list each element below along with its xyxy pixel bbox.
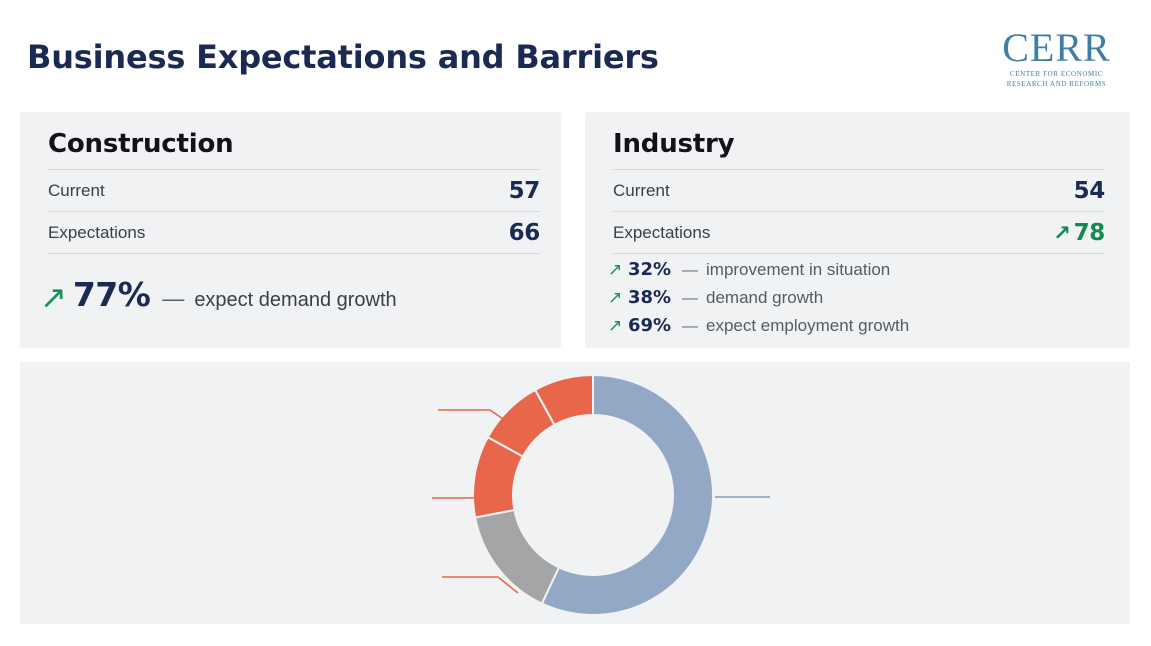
kpi-value: 57 (509, 178, 540, 204)
bullet-dash: — (682, 290, 698, 308)
bullet-dash: — (682, 318, 698, 336)
bullet-pct: 69% (628, 315, 680, 336)
trend-up-arrow-icon: ↗ (1053, 221, 1070, 245)
donut-chart: 11% Taxation 9% Utilities 8% Access to c… (20, 362, 1130, 624)
table-row: Current 54 (613, 169, 1105, 212)
industry-kpi-table: Current 54 Expectations ↗78 (613, 169, 1105, 254)
kpi-value: 66 (509, 220, 540, 246)
construction-highlight: ↗ 77% — expect demand growth (40, 275, 397, 314)
table-row: Expectations 66 (48, 212, 540, 254)
kpi-label: Current (48, 181, 105, 201)
list-item: ↗ 32% — improvement in situation (608, 259, 909, 287)
kpi-label: Expectations (48, 223, 145, 243)
construction-kpi-table: Current 57 Expectations 66 (48, 169, 540, 254)
cerr-logo: CERR CENTER FOR ECONOMIC RESEARCH AND RE… (984, 27, 1129, 89)
table-row: Expectations ↗78 (613, 212, 1105, 254)
kpi-value-number: 78 (1074, 220, 1105, 246)
bullet-pct: 38% (628, 287, 680, 308)
donut-chart-svg (320, 362, 780, 624)
page-title: Business Expectations and Barriers (27, 38, 659, 76)
construction-card-title: Construction (48, 129, 233, 159)
donut-slice-other[interactable] (475, 510, 559, 604)
list-item: ↗ 69% — expect employment growth (608, 315, 909, 343)
trend-up-arrow-icon: ↗ (40, 281, 67, 313)
trend-up-arrow-icon: ↗ (608, 288, 628, 308)
trend-up-arrow-icon: ↗ (608, 316, 628, 336)
construction-highlight-desc: expect demand growth (194, 289, 396, 312)
trend-up-arrow-icon: ↗ (608, 260, 628, 280)
industry-card-title: Industry (613, 129, 734, 159)
bullet-desc: expect employment growth (706, 316, 909, 336)
construction-highlight-pct: 77% (73, 275, 151, 314)
kpi-label: Expectations (613, 223, 710, 243)
logo-subtitle-line1: CENTER FOR ECONOMIC (984, 70, 1129, 79)
barriers-chart-card: 11% Taxation 9% Utilities 8% Access to c… (20, 362, 1130, 624)
industry-bullet-list: ↗ 32% — improvement in situation ↗ 38% —… (608, 259, 909, 343)
kpi-label: Current (613, 181, 670, 201)
kpi-value: 54 (1074, 178, 1105, 204)
bullet-pct: 32% (628, 259, 680, 280)
list-item: ↗ 38% — demand growth (608, 287, 909, 315)
table-row: Current 57 (48, 169, 540, 212)
bullet-desc: demand growth (706, 288, 823, 308)
bullet-desc: improvement in situation (706, 260, 890, 280)
construction-highlight-dash: — (162, 286, 184, 312)
logo-subtitle-line2: RESEARCH AND REFORMS (984, 80, 1129, 89)
kpi-value: ↗78 (1053, 220, 1105, 246)
donut-slices-explicit (473, 375, 713, 615)
logo-wordmark: CERR (984, 27, 1129, 69)
bullet-dash: — (682, 262, 698, 280)
